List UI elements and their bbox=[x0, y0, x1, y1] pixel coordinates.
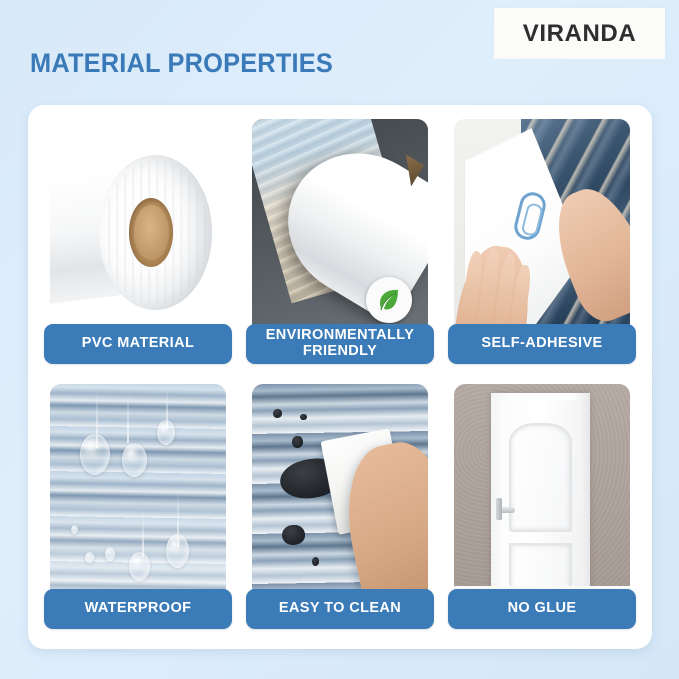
brand-logo-text: VIRANDA bbox=[523, 20, 637, 48]
features-grid: PVC MATERIAL bbox=[44, 119, 636, 635]
feature-tile-self-adhesive[interactable]: SELF-ADHESIVE bbox=[448, 119, 636, 370]
door-icon bbox=[454, 384, 630, 611]
feature-label-easy-to-clean: EASY TO CLEAN bbox=[246, 589, 434, 629]
feature-label-pvc-material: PVC MATERIAL bbox=[44, 324, 232, 364]
feature-tile-pvc-material[interactable]: PVC MATERIAL bbox=[44, 119, 232, 370]
water-drop-icon bbox=[50, 384, 226, 611]
features-card: PVC MATERIAL bbox=[28, 105, 652, 649]
feature-tile-environmentally-friendly[interactable]: ENVIRONMENTALLYFRIENDLY bbox=[246, 119, 434, 370]
feature-label-no-glue: NO GLUE bbox=[448, 589, 636, 629]
feature-label-self-adhesive: SELF-ADHESIVE bbox=[448, 324, 636, 364]
feature-tile-waterproof[interactable]: WATERPROOF bbox=[44, 384, 232, 635]
eco-photo bbox=[252, 119, 428, 346]
pvc-roll-icon bbox=[50, 119, 226, 346]
infographic-page: VIRANDA MATERIAL PROPERTIES PVC MATERIAL bbox=[0, 0, 679, 679]
feature-label-environmentally-friendly: ENVIRONMENTALLYFRIENDLY bbox=[246, 324, 434, 364]
feature-label-waterproof: WATERPROOF bbox=[44, 589, 232, 629]
feature-tile-easy-to-clean[interactable]: EASY TO CLEAN bbox=[246, 384, 434, 635]
self-adhesive-photo bbox=[454, 119, 630, 346]
brand-logo: VIRANDA bbox=[494, 8, 665, 59]
leaf-badge-icon bbox=[366, 277, 412, 323]
feature-tile-no-glue[interactable]: NO GLUE bbox=[448, 384, 636, 635]
page-title: MATERIAL PROPERTIES bbox=[30, 48, 333, 79]
cleaning-cloth-icon bbox=[252, 384, 428, 611]
